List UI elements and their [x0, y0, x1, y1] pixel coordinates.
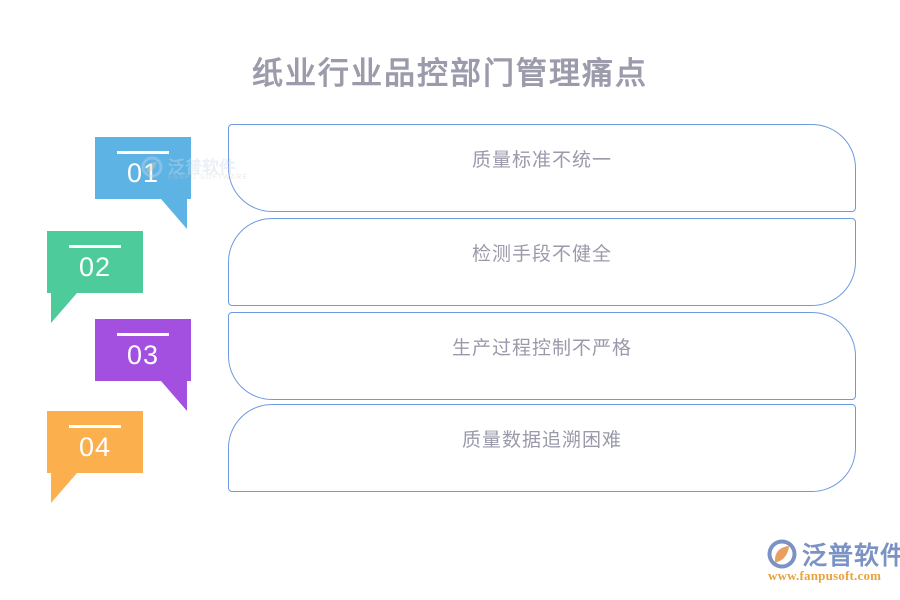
badge-number-text-01: 01	[95, 157, 191, 189]
logo-name: 泛普软件	[802, 536, 900, 572]
badge-number-text-03: 03	[95, 339, 191, 371]
number-badge-03: 03	[95, 319, 191, 381]
pain-point-box-1: 质量标准不统一	[228, 124, 856, 212]
logo-url: www.fanpusoft.com	[768, 568, 881, 584]
pain-point-label-4: 质量数据追溯困难	[229, 425, 855, 452]
pain-point-box-2: 检测手段不健全	[228, 218, 856, 306]
badge-divider-rule	[117, 151, 169, 154]
badge-divider-rule	[117, 333, 169, 336]
badge-divider-rule	[69, 425, 121, 428]
number-badge-01: 01	[95, 137, 191, 199]
infographic-canvas: 纸业行业品控部门管理痛点 质量标准不统一 检测手段不健全 生产过程控制不严格 质…	[0, 0, 900, 600]
fanpu-logo-icon	[766, 538, 798, 570]
speech-bubble-tail-icon	[161, 199, 187, 229]
pain-point-box-4: 质量数据追溯困难	[228, 404, 856, 492]
badge-number-text-02: 02	[47, 251, 143, 283]
pain-point-label-1: 质量标准不统一	[229, 145, 855, 172]
speech-bubble-tail-icon	[51, 293, 77, 323]
pain-point-label-2: 检测手段不健全	[229, 239, 855, 266]
speech-bubble-tail-icon	[51, 473, 77, 503]
speech-bubble-tail-icon	[161, 381, 187, 411]
brand-logo: 泛普软件 www.fanpusoft.com	[766, 536, 894, 588]
number-badge-02: 02	[47, 231, 143, 293]
page-title: 纸业行业品控部门管理痛点	[0, 48, 900, 93]
pain-point-box-3: 生产过程控制不严格	[228, 312, 856, 400]
badge-number-text-04: 04	[47, 431, 143, 463]
pain-point-label-3: 生产过程控制不严格	[229, 333, 855, 360]
badge-divider-rule	[69, 245, 121, 248]
number-badge-04: 04	[47, 411, 143, 473]
